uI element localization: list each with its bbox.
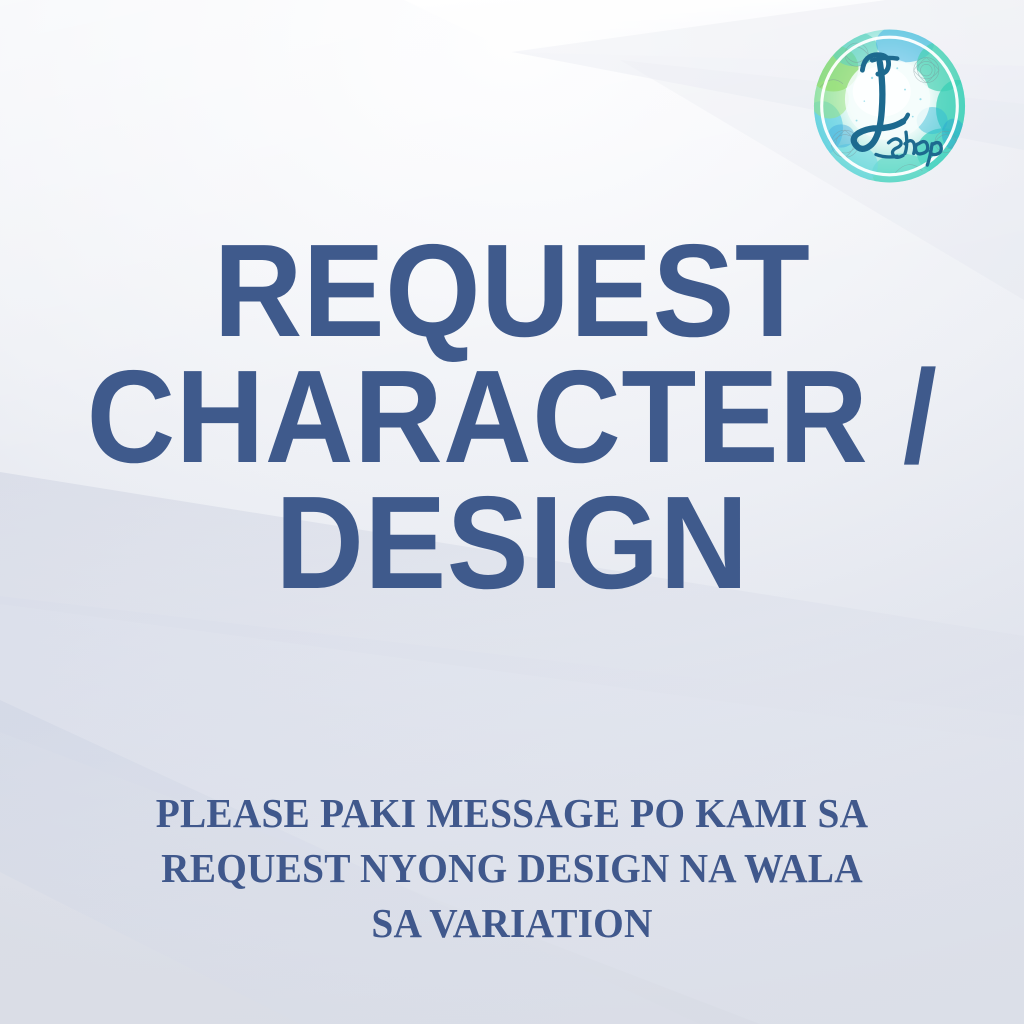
page-title: REQUEST CHARACTER / DESIGN <box>36 228 988 606</box>
headline-line-2: CHARACTER / <box>36 354 988 480</box>
headline-line-3: DESIGN <box>36 480 988 606</box>
subtitle-line-1: PLEASE PAKI MESSAGE PO KAMI SA <box>20 786 1003 841</box>
subtitle-line-2: REQUEST NYONG DESIGN NA WALA <box>20 841 1003 896</box>
poster-canvas: REQUEST CHARACTER / DESIGN PLEASE PAKI M… <box>0 0 1024 1024</box>
subtitle-line-3: SA VARIATION <box>20 896 1003 951</box>
subtitle-text: PLEASE PAKI MESSAGE PO KAMI SA REQUEST N… <box>20 786 1003 951</box>
headline-line-1: REQUEST <box>36 228 988 354</box>
logo-watercolor-fill <box>812 27 967 185</box>
jshop-logo <box>812 27 967 185</box>
